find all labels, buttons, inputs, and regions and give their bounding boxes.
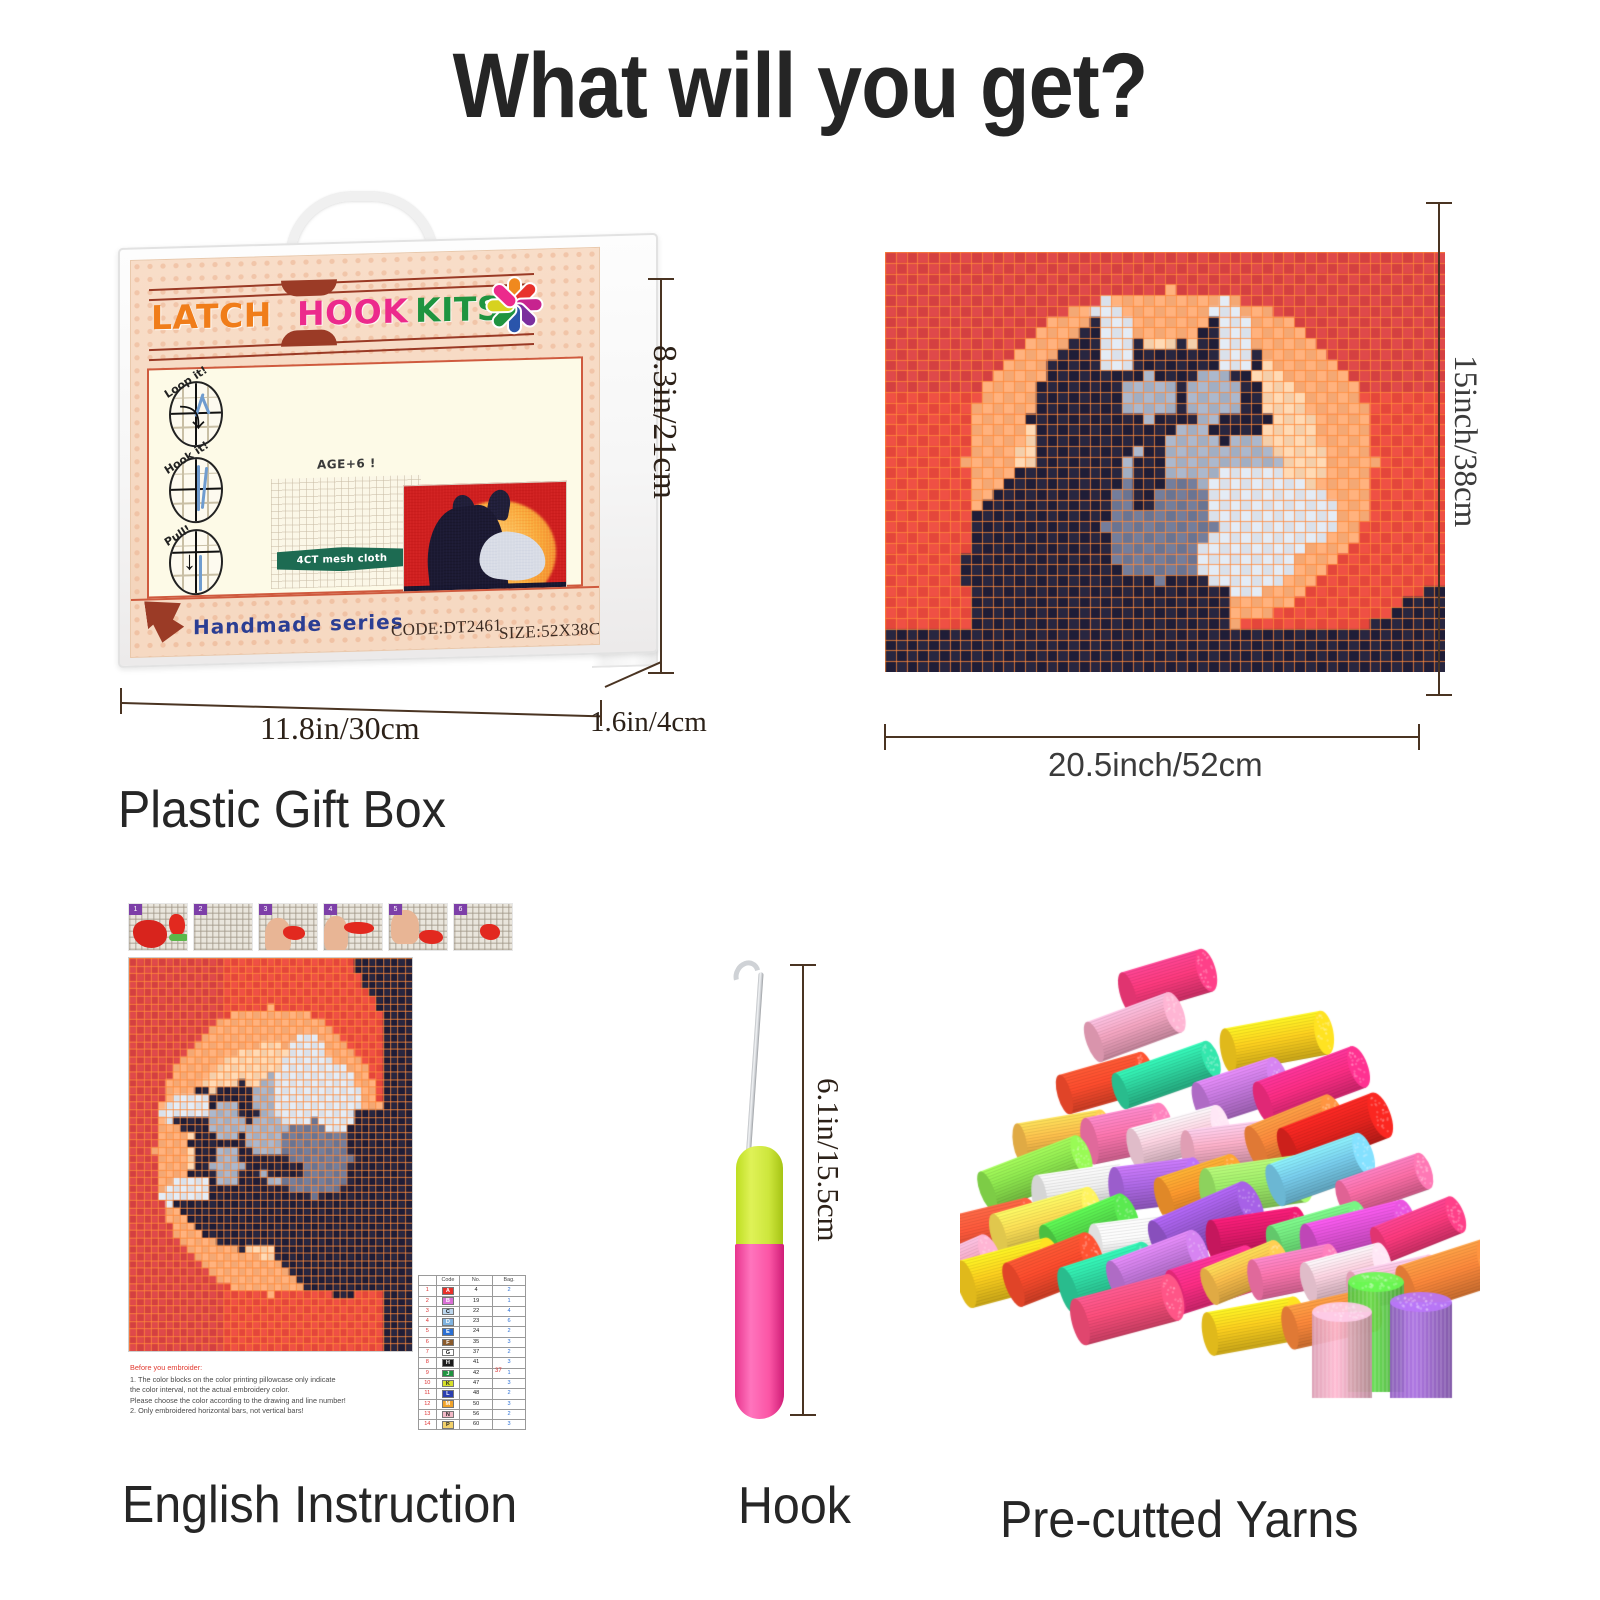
legend-cell-no: 23 [460, 1317, 493, 1327]
legend-cell-bag: 3 [493, 1399, 526, 1409]
legend-cell-no: 35 [460, 1337, 493, 1347]
legend-cell-index: 10 [419, 1378, 437, 1388]
legend-cell-code: P [436, 1420, 460, 1430]
series-mark: " [309, 622, 314, 634]
legend-cell-no: 47 [460, 1378, 493, 1388]
legend-cell-bag: 1 [493, 1296, 526, 1306]
legend-cell-no: 24 [460, 1327, 493, 1337]
legend-cell-bag: 2 [493, 1286, 526, 1296]
legend-cell-index: 12 [419, 1399, 437, 1409]
thumb-step-badge: 4 [324, 904, 337, 915]
legend-row: 9J421 [419, 1368, 526, 1378]
legend-cell-index: 1 [419, 1286, 437, 1296]
hook-needle [745, 972, 763, 1162]
yarn-pile-image [960, 930, 1480, 1400]
legend-cell-no: 37 [460, 1348, 493, 1358]
legend-cell-index: 5 [419, 1327, 437, 1337]
infographic-page: What will you get? LATCH HOOK [0, 0, 1600, 1600]
legend-cell-no: 56 [460, 1409, 493, 1419]
thumb-yarn-icon [419, 930, 443, 944]
kit-title-word-hook: HOOK [297, 291, 408, 333]
card-footer-band: Handmade series " CODE:DT2461 SIZE:52X38… [131, 586, 599, 657]
notice-line-1: 1. The color blocks on the color printin… [130, 1375, 336, 1384]
dimension-tick [790, 964, 816, 966]
legend-cell-index: 8 [419, 1358, 437, 1368]
legend-cell-code: C [436, 1306, 460, 1316]
legend-cell-code: N [436, 1409, 460, 1419]
legend-row: 5E242 [419, 1327, 526, 1337]
caption-hook: Hook [738, 1476, 851, 1536]
thumb-yarn-icon [283, 926, 305, 940]
legend-row: 6F353 [419, 1337, 526, 1347]
legend-cell-index: 11 [419, 1389, 437, 1399]
notice-line-2: the color interval, not the actual embro… [130, 1385, 289, 1394]
legend-cell-code: G [436, 1348, 460, 1358]
thumb-yarn-icon [480, 924, 500, 940]
legend-cell-no: 48 [460, 1389, 493, 1399]
legend-total-count: 37 [495, 1368, 502, 1374]
legend-cell-bag: 4 [493, 1306, 526, 1316]
legend-cell-no: 42 [460, 1368, 493, 1378]
legend-cell-bag: 6 [493, 1317, 526, 1327]
thumb-step-badge: 2 [194, 904, 207, 915]
step-thumbnail: 1 [128, 903, 188, 951]
legend-cell-bag: 3 [493, 1337, 526, 1347]
legend-cell-no: 50 [460, 1399, 493, 1409]
legend-header-row: Code No. Bag. [419, 1276, 526, 1286]
legend-row: 14P603 [419, 1420, 526, 1430]
dimension-tick [648, 672, 674, 674]
legend-cell-code: A [436, 1286, 460, 1296]
legend-row: 10K473 [419, 1378, 526, 1388]
dimension-line-hook-length [802, 964, 804, 1416]
legend-cell-index: 3 [419, 1306, 437, 1316]
notice-heading: Before you embroider: [130, 1363, 400, 1374]
page-title: What will you get? [96, 34, 1504, 139]
legend-cell-index: 7 [419, 1348, 437, 1358]
dimension-label-canvas-height: 15inch/38cm [1446, 355, 1483, 527]
thumb-yarn-icon [344, 922, 374, 934]
panel-precut-yarns: Pre-cutted Yarns [960, 930, 1480, 1400]
caption-english-instruction: English Instruction [122, 1475, 517, 1535]
color-legend-table: Code No. Bag. 1A422B1913C2244D2365E2426F… [418, 1275, 526, 1430]
box-printed-card: LATCH HOOK KITS ⤵ Loop it! [130, 247, 600, 658]
caption-gift-box: Plastic Gift Box [118, 780, 446, 840]
product-size-text: SIZE:52X38CM [499, 618, 600, 644]
step-thumbnail: 2 [193, 903, 253, 951]
legend-row: 11L482 [419, 1389, 526, 1399]
dimension-label-hook-length: 6.1in/15.5cm [810, 1078, 846, 1242]
instruction-pattern-chart [128, 957, 413, 1352]
dimension-label-box-width: 11.8in/30cm [260, 710, 420, 747]
legend-cell-bag: 3 [493, 1420, 526, 1430]
legend-cell-no: 19 [460, 1296, 493, 1306]
dimension-tick [648, 278, 674, 280]
hook-handle-upper [736, 1146, 783, 1246]
legend-header-no: No. [460, 1276, 493, 1286]
legend-row: 8H413 [419, 1358, 526, 1368]
series-text: Handmade series [193, 609, 404, 639]
legend-row: 3C224 [419, 1306, 526, 1316]
thumb-yarn-icon [133, 920, 167, 948]
thumb-step-badge: 1 [129, 904, 142, 915]
thumb-step-badge: 6 [454, 904, 467, 915]
dimension-label-canvas-width: 20.5inch/52cm [1048, 746, 1263, 784]
legend-cell-code: E [436, 1327, 460, 1337]
card-inner-panel: ⤵ Loop it! Hook it! [147, 356, 583, 598]
thumb-hand-icon [324, 916, 348, 951]
legend-cell-code: D [436, 1317, 460, 1327]
dimension-tick [1418, 724, 1420, 750]
legend-cell-index: 6 [419, 1337, 437, 1347]
legend-header-code: Code [436, 1276, 460, 1286]
legend-cell-code: F [436, 1337, 460, 1347]
legend-cell-bag: 2 [493, 1327, 526, 1337]
legend-row: 1A42 [419, 1286, 526, 1296]
legend-row: 7G372 [419, 1348, 526, 1358]
legend-cell-code: K [436, 1378, 460, 1388]
thumb-step-badge: 5 [389, 904, 402, 915]
legend-cell-index: 14 [419, 1420, 437, 1430]
dimension-tick [120, 688, 122, 714]
hook-handle-lower [735, 1244, 784, 1419]
panel-english-instruction: 123456 Code No. Bag. 1A422B1913C2244D236… [100, 885, 660, 1485]
legend-cell-code: B [436, 1296, 460, 1306]
kit-title-word-latch: LATCH [151, 295, 272, 337]
legend-cell-no: 60 [460, 1420, 493, 1430]
panel-printed-canvas: 15inch/38cm 20.5inch/52cm [860, 180, 1500, 800]
ribbon-ornament-icon [144, 595, 186, 644]
legend-cell-bag: 2 [493, 1348, 526, 1358]
legend-cell-bag: 2 [493, 1409, 526, 1419]
panel-hook: 6.1in/15.5cm Hook [690, 950, 890, 1430]
mesh-cloth-swatch [271, 475, 421, 589]
dimension-tick [884, 724, 886, 750]
legend-cell-bag: 2 [493, 1389, 526, 1399]
legend-cell-index: 2 [419, 1296, 437, 1306]
dimension-tick [1426, 694, 1452, 696]
legend-row: 12M503 [419, 1399, 526, 1409]
pinwheel-logo-icon [483, 273, 545, 337]
caption-precutted-yarns: Pre-cutted Yarns [1000, 1490, 1358, 1550]
panel-gift-box: LATCH HOOK KITS ⤵ Loop it! [100, 180, 800, 860]
notice-line-3: Please choose the color according to the… [130, 1396, 346, 1405]
dimension-tick [790, 1414, 816, 1416]
legend-cell-bag: 3 [493, 1358, 526, 1368]
thumb-yarn-icon [169, 914, 185, 936]
legend-row: 13N562 [419, 1409, 526, 1419]
legend-cell-no: 22 [460, 1306, 493, 1316]
thumb-tool-icon [169, 934, 188, 941]
legend-cell-code: L [436, 1389, 460, 1399]
step-thumbnail-strip: 123456 [128, 903, 518, 951]
legend-row: 2B191 [419, 1296, 526, 1306]
product-code-text: CODE:DT2461 [391, 615, 502, 640]
dimension-line-canvas-width [885, 736, 1420, 738]
dimension-line-canvas-height [1438, 202, 1440, 696]
legend-row: 4D236 [419, 1317, 526, 1327]
thumb-step-badge: 3 [259, 904, 272, 915]
dimension-label-box-height: 8.3in/21cm [645, 345, 683, 499]
step-thumbnail: 4 [323, 903, 383, 951]
legend-cell-index: 9 [419, 1368, 437, 1378]
step-thumbnail: 3 [258, 903, 318, 951]
thumb-hand-icon [391, 910, 419, 944]
before-you-embroider-notice: Before you embroider: 1. The color block… [130, 1363, 400, 1417]
legend-cell-no: 41 [460, 1358, 493, 1368]
mesh-ribbon-label: 4CT mesh cloth [297, 552, 388, 566]
dimension-label-box-depth: 1.6in/4cm [590, 706, 707, 739]
dimension-tick [1426, 202, 1452, 204]
legend-cell-code: J [436, 1368, 460, 1378]
legend-cell-index: 13 [419, 1409, 437, 1419]
legend-cell-bag: 3 [493, 1378, 526, 1388]
legend-header-index [419, 1276, 437, 1286]
legend-cell-index: 4 [419, 1317, 437, 1327]
age-rating-text: AGE+6 ! [317, 456, 376, 472]
legend-cell-no: 4 [460, 1286, 493, 1296]
step-thumbnail: 5 [388, 903, 448, 951]
legend-cell-code: M [436, 1399, 460, 1409]
printed-mesh-canvas [885, 252, 1445, 672]
step-thumbnail: 6 [453, 903, 513, 951]
legend-cell-code: H [436, 1358, 460, 1368]
notice-line-4: 2. Only embroidered horizontal bars, not… [130, 1406, 304, 1415]
legend-header-bag: Bag. [493, 1276, 526, 1286]
gift-box-product: LATCH HOOK KITS ⤵ Loop it! [118, 220, 658, 670]
